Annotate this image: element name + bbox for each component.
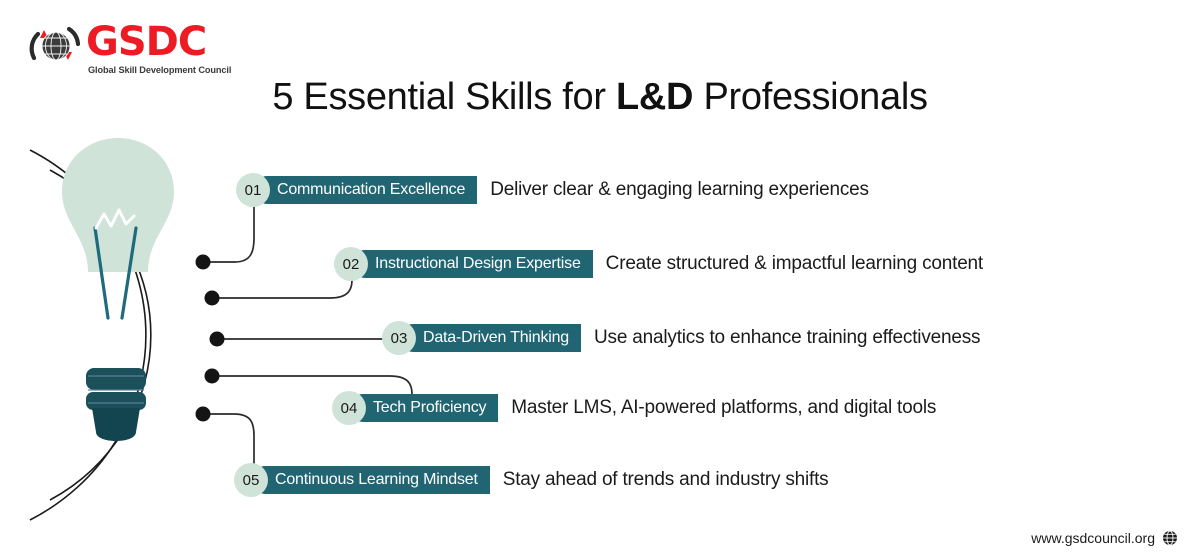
skill-description: Create structured & impactful learning c… bbox=[606, 253, 983, 275]
skill-row-05[interactable]: 05 Continuous Learning Mindset Stay ahea… bbox=[234, 464, 829, 496]
skill-number-badge: 02 bbox=[334, 247, 368, 281]
logo-wordmark: GSDC bbox=[86, 20, 206, 64]
page-title-after: Professionals bbox=[693, 76, 927, 118]
skill-label-pill[interactable]: Communication Excellence bbox=[253, 176, 477, 204]
connector-dots bbox=[196, 255, 225, 422]
logo-tagline: Global Skill Development Council bbox=[88, 65, 231, 75]
globe-icon bbox=[1162, 530, 1178, 546]
skill-number-badge: 04 bbox=[332, 391, 366, 425]
skill-row-03[interactable]: 03 Data-Driven Thinking Use analytics to… bbox=[382, 322, 980, 354]
skill-row-02[interactable]: 02 Instructional Design Expertise Create… bbox=[334, 248, 983, 280]
skill-row-01[interactable]: 01 Communication Excellence Deliver clea… bbox=[236, 174, 869, 206]
skill-number-badge: 05 bbox=[234, 463, 268, 497]
globe-arc-icon bbox=[28, 22, 86, 74]
page-title-accent: L&D bbox=[616, 76, 693, 118]
lightbulb-icon bbox=[62, 138, 174, 441]
skill-label-pill[interactable]: Instructional Design Expertise bbox=[351, 250, 593, 278]
page-title: 5 Essential Skills for L&D Professionals bbox=[0, 76, 1200, 119]
skill-number-badge: 01 bbox=[236, 173, 270, 207]
skill-label-pill[interactable]: Tech Proficiency bbox=[349, 394, 498, 422]
skill-row-04[interactable]: 04 Tech Proficiency Master LMS, AI-power… bbox=[332, 392, 936, 424]
skill-description: Stay ahead of trends and industry shifts bbox=[503, 469, 829, 491]
page-title-before: 5 Essential Skills for bbox=[272, 76, 616, 118]
gsdc-logo: GSDC Global Skill Development Council bbox=[28, 20, 248, 82]
skill-description: Use analytics to enhance training effect… bbox=[594, 327, 980, 349]
skill-number-badge: 03 bbox=[382, 321, 416, 355]
footer-website[interactable]: www.gsdcouncil.org bbox=[1031, 530, 1155, 546]
skill-description: Master LMS, AI-powered platforms, and di… bbox=[511, 397, 936, 419]
skill-label-pill[interactable]: Continuous Learning Mindset bbox=[251, 466, 490, 494]
skill-description: Deliver clear & engaging learning experi… bbox=[490, 179, 869, 201]
skill-label-pill[interactable]: Data-Driven Thinking bbox=[399, 324, 581, 352]
footer: www.gsdcouncil.org bbox=[1031, 530, 1178, 546]
concentric-arcs bbox=[30, 150, 151, 520]
connector-lines bbox=[205, 206, 412, 468]
infographic-page: GSDC Global Skill Development Council 5 … bbox=[0, 0, 1200, 560]
